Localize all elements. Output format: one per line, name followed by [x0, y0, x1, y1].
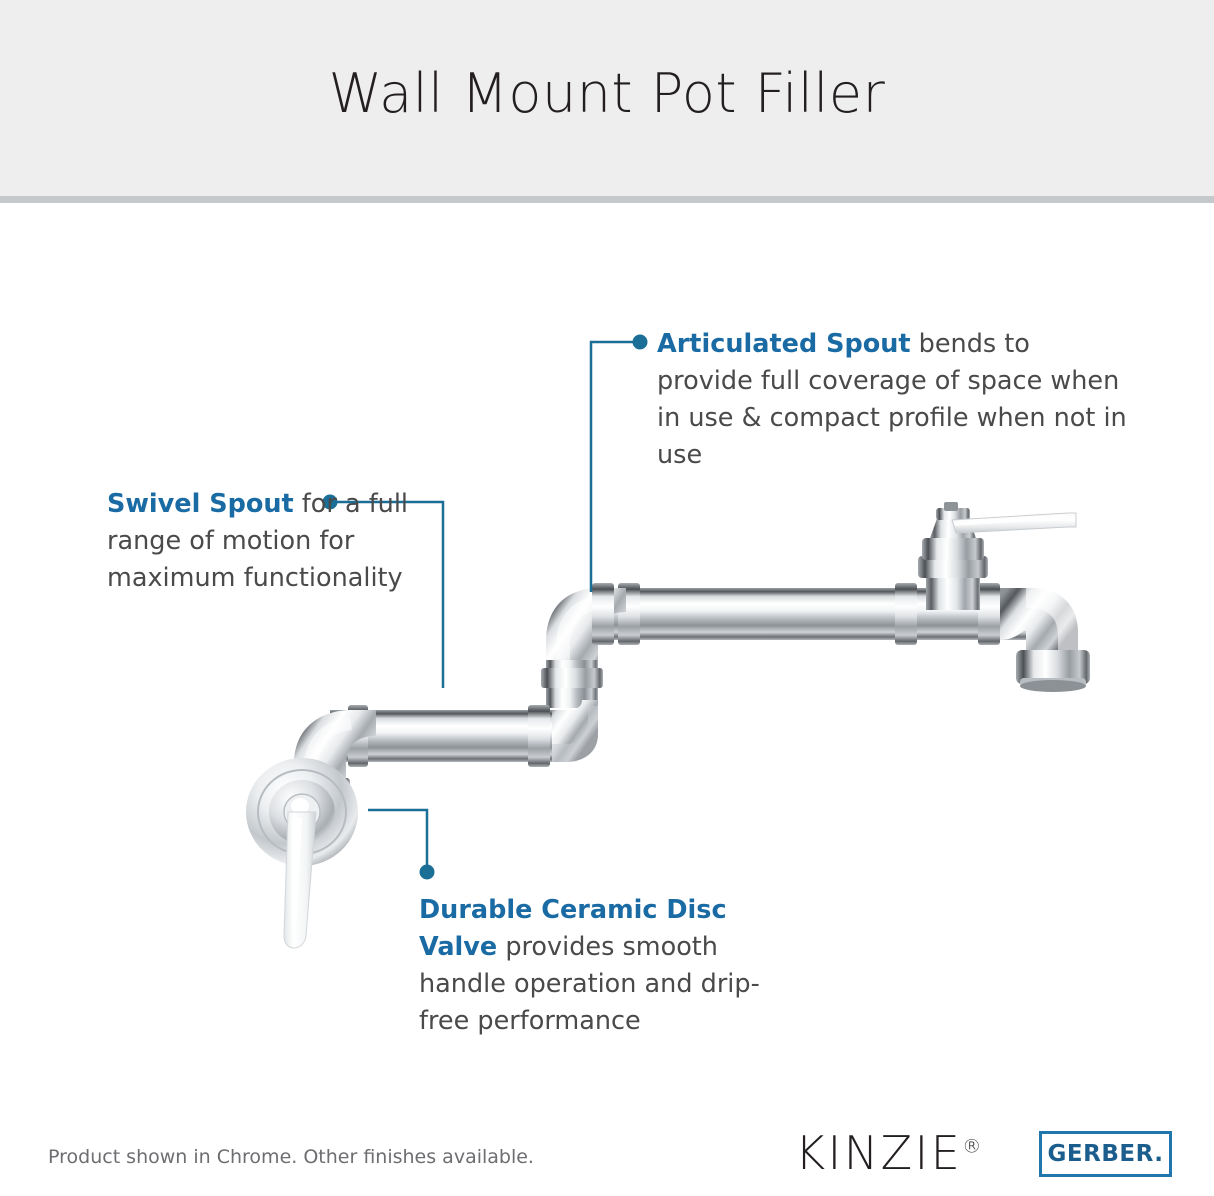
finish-disclaimer: Product shown in Chrome. Other finishes … [48, 1146, 534, 1168]
infographic-page: Wall Mount Pot Filler [0, 0, 1214, 1196]
kinzie-logo: KINZIE® [795, 1126, 981, 1180]
gerber-logo: GERBER. [1039, 1131, 1172, 1177]
registered-trademark-icon: ® [962, 1136, 981, 1158]
callout-lead-swivel: Swivel Spout [107, 489, 294, 519]
articulated-joint [540, 583, 626, 762]
callout-ceramic-disc-valve: Durable Ceramic Disc Valve provides smoo… [419, 892, 779, 1040]
callout-swivel-spout: Swivel Spout for a full range of motion … [107, 486, 437, 597]
upper-lever-handle [952, 513, 1076, 533]
callout-articulated-spout: Articulated Spout bends to provide full … [657, 326, 1127, 474]
gerber-wordmark: GERBER. [1048, 1141, 1164, 1167]
callout-lead-articulated: Articulated Spout [657, 329, 911, 359]
kinzie-wordmark: KINZIE [795, 1126, 962, 1180]
lower-lever-handle [284, 812, 316, 948]
